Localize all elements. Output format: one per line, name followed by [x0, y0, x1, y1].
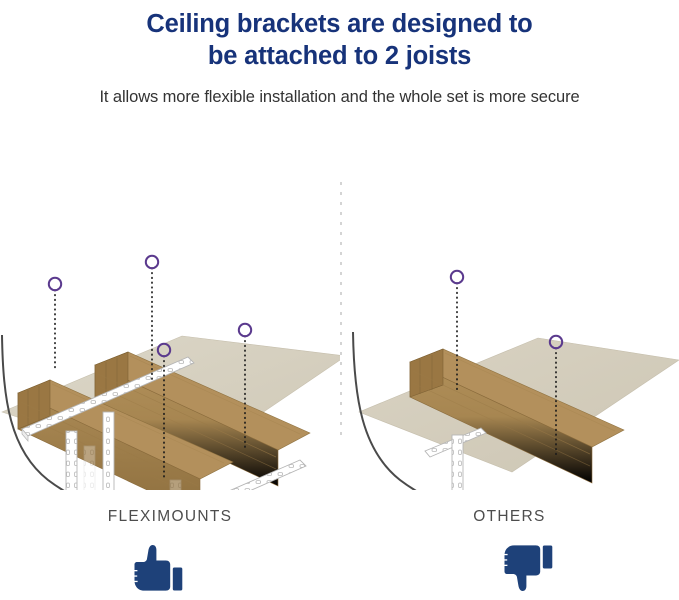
headline-line-2: be attached to 2 joists: [0, 40, 679, 72]
mount-point-marker-left-1: [49, 278, 61, 368]
page-subtitle: It allows more flexible installation and…: [0, 72, 679, 108]
thumbs-up-icon: [124, 542, 184, 594]
comparison-footer: FLEXIMOUNTS OTHERS: [0, 496, 679, 600]
infographic-page: Ceiling brackets are designed to be atta…: [0, 0, 679, 600]
support-post-left-1: [66, 431, 77, 490]
support-post-left-2: [103, 412, 114, 490]
label-others: OTHERS: [340, 508, 679, 526]
fleximounts-diagram: [2, 256, 346, 490]
support-post-right-1: [452, 435, 463, 490]
header: Ceiling brackets are designed to be atta…: [0, 0, 679, 108]
headline-line-1: Ceiling brackets are designed to: [0, 8, 679, 40]
others-diagram: [353, 271, 679, 490]
comparison-illustration: [0, 150, 679, 490]
thumbs-down-icon: [494, 542, 554, 594]
label-fleximounts: FLEXIMOUNTS: [0, 508, 340, 526]
page-title: Ceiling brackets are designed to be atta…: [0, 0, 679, 72]
